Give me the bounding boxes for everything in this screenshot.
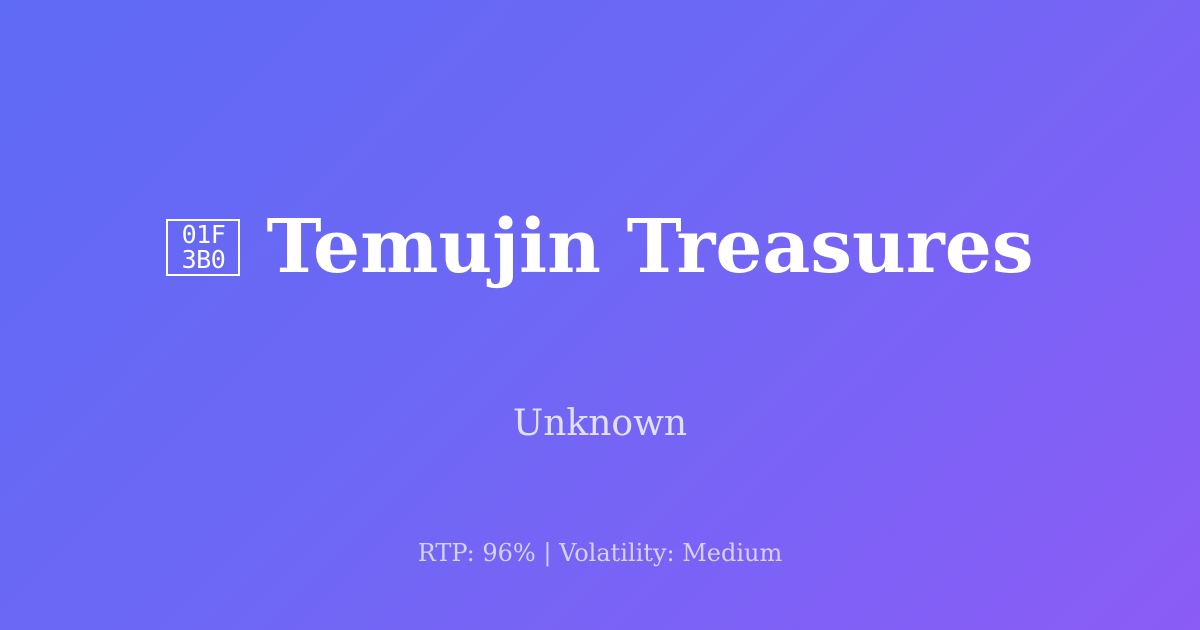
codepoint-top: 01F — [182, 222, 226, 248]
game-preview-card: 01F 3B0 Temujin Treasures Unknown RTP: 9… — [0, 0, 1200, 630]
game-title: Temujin Treasures — [266, 209, 1033, 287]
game-meta: RTP: 96% | Volatility: Medium — [0, 539, 1200, 568]
slot-machine-icon: 01F 3B0 — [166, 219, 240, 276]
codepoint-bottom: 3B0 — [182, 247, 226, 273]
title-row: 01F 3B0 Temujin Treasures — [0, 159, 1200, 336]
game-subtitle: Unknown — [513, 402, 687, 445]
